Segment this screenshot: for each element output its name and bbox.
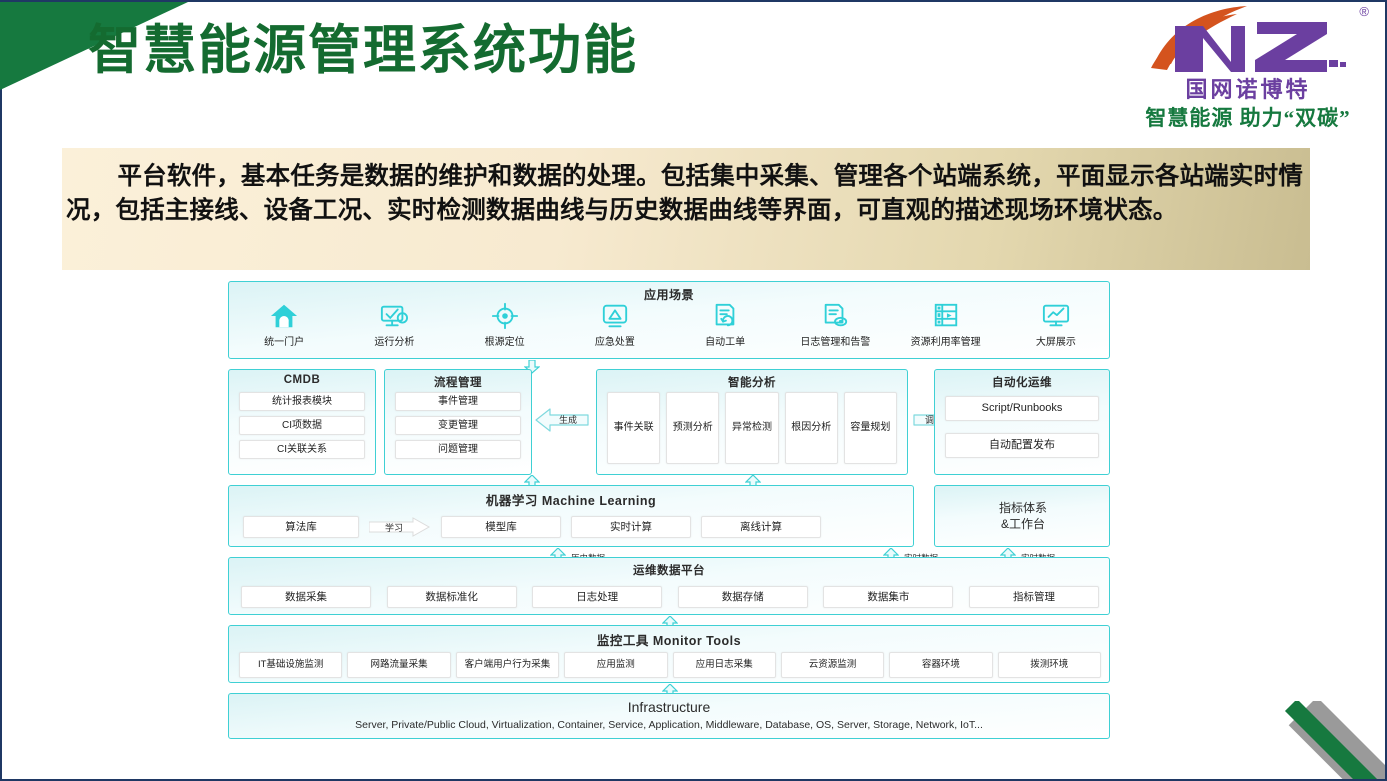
cmdb-title: CMDB — [229, 370, 375, 386]
panel-automation-ops: 自动化运维 Script/Runbooks 自动配置发布 — [934, 369, 1110, 475]
scenario-item-emergency[interactable]: 应急处置 — [563, 302, 667, 348]
server-rack-icon — [931, 302, 961, 330]
arrow-learn-label: 学习 — [369, 521, 419, 534]
infrastructure-subtitle: Server, Private/Public Cloud, Virtualiza… — [229, 715, 1109, 731]
scenario-item-big-screen[interactable]: 大屏展示 — [1004, 302, 1108, 348]
analysis-item[interactable]: 预测分析 — [666, 392, 719, 464]
cmdb-item[interactable]: CI关联关系 — [239, 440, 365, 459]
document-eye-icon — [820, 302, 850, 330]
scenario-item-run-analysis[interactable]: 运行分析 — [342, 302, 446, 348]
monitor-item[interactable]: 应用监测 — [564, 652, 667, 678]
monitor-item[interactable]: 容器环境 — [889, 652, 992, 678]
automation-item-list: Script/Runbooks 自动配置发布 — [945, 396, 1099, 458]
data-platform-title: 运维数据平台 — [229, 558, 1109, 578]
data-platform-item[interactable]: 数据标准化 — [387, 586, 517, 608]
crosshair-target-icon — [490, 302, 520, 330]
document-refresh-icon — [710, 302, 740, 330]
panel-cmdb: CMDB 统计报表模块 CI项数据 CI关联关系 — [228, 369, 376, 475]
data-platform-item[interactable]: 数据采集 — [241, 586, 371, 608]
analysis-title: 智能分析 — [597, 370, 907, 390]
scenario-item-auto-ticket[interactable]: 自动工单 — [673, 302, 777, 348]
automation-title: 自动化运维 — [935, 370, 1109, 390]
monitor-item-list: IT基础设施监测 网路流量采集 客户端用户行为采集 应用监测 应用日志采集 云资… — [239, 652, 1101, 678]
intro-paragraph: 平台软件，基本任务是数据的维护和数据的处理。包括集中采集、管理各个站端系统，平面… — [62, 148, 1310, 228]
home-icon — [269, 302, 299, 330]
scenarios-title: 应用场景 — [229, 282, 1109, 303]
scenario-label: 资源利用率管理 — [911, 333, 981, 348]
scenario-label: 运行分析 — [374, 333, 414, 348]
panel-ops-data-platform: 运维数据平台 数据采集 数据标准化 日志处理 数据存储 数据集市 指标管理 — [228, 557, 1110, 615]
monitor-item[interactable]: 网路流量采集 — [347, 652, 450, 678]
monitor-item[interactable]: 应用日志采集 — [673, 652, 776, 678]
ml-row: 机器学习 Machine Learning 算法库 学习 模型库 实时计算 离线… — [228, 485, 1110, 547]
kpi-line-1: 指标体系 — [935, 500, 1111, 516]
logo-mark-icon — [1145, 4, 1351, 78]
cmdb-item[interactable]: 统计报表模块 — [239, 392, 365, 411]
panel-process-management: 流程管理 事件管理 变更管理 问题管理 — [384, 369, 532, 475]
capability-row: CMDB 统计报表模块 CI项数据 CI关联关系 流程管理 事件管理 变更管理 … — [228, 369, 1110, 475]
arrow-generate-label: 生成 — [540, 413, 596, 426]
panel-kpi-workbench: 指标体系 &工作台 — [934, 485, 1110, 547]
data-platform-item-list: 数据采集 数据标准化 日志处理 数据存储 数据集市 指标管理 — [241, 586, 1099, 608]
analysis-item-list: 事件关联 预测分析 异常检测 根因分析 容量规划 — [607, 392, 897, 464]
page-title: 智慧能源管理系统功能 — [88, 8, 638, 84]
ml-item-list: 算法库 学习 模型库 实时计算 离线计算 — [243, 516, 901, 538]
scenario-label: 日志管理和告警 — [800, 333, 870, 348]
automation-item[interactable]: 自动配置发布 — [945, 433, 1099, 458]
panel-machine-learning: 机器学习 Machine Learning 算法库 学习 模型库 实时计算 离线… — [228, 485, 914, 547]
ml-item-model-library[interactable]: 模型库 — [441, 516, 561, 538]
panel-infrastructure: Infrastructure Server, Private/Public Cl… — [228, 693, 1110, 739]
architecture-diagram: 应用场景 统一门户 运行分析 — [228, 281, 1110, 758]
scenario-label: 统一门户 — [264, 333, 304, 348]
process-item[interactable]: 变更管理 — [395, 416, 521, 435]
scenario-label: 根源定位 — [485, 333, 525, 348]
data-platform-item[interactable]: 日志处理 — [532, 586, 662, 608]
corner-decoration-bottom-right — [1281, 701, 1385, 779]
analysis-item[interactable]: 根因分析 — [785, 392, 838, 464]
scenario-label: 自动工单 — [705, 333, 745, 348]
monitor-item[interactable]: 拨测环境 — [998, 652, 1101, 678]
process-item[interactable]: 问题管理 — [395, 440, 521, 459]
cmdb-item-list: 统计报表模块 CI项数据 CI关联关系 — [239, 392, 365, 459]
infrastructure-title: Infrastructure — [229, 694, 1109, 715]
analysis-item[interactable]: 容量规划 — [844, 392, 897, 464]
arrow-generate: 生成 — [534, 407, 590, 433]
ml-title: 机器学习 Machine Learning — [229, 486, 913, 509]
cmdb-item[interactable]: CI项数据 — [239, 416, 365, 435]
data-platform-item[interactable]: 数据集市 — [823, 586, 953, 608]
panel-monitor-tools: 监控工具 Monitor Tools IT基础设施监测 网路流量采集 客户端用户… — [228, 625, 1110, 683]
alert-triangle-screen-icon — [600, 302, 630, 330]
monitor-chart-icon — [1041, 302, 1071, 330]
logo-company-name: 国网诺博特 — [1123, 72, 1373, 104]
kpi-line-2: &工作台 — [935, 516, 1111, 532]
monitor-item[interactable]: IT基础设施监测 — [239, 652, 342, 678]
process-item-list: 事件管理 变更管理 问题管理 — [395, 392, 521, 459]
kpi-label: 指标体系 &工作台 — [935, 500, 1111, 532]
data-platform-item[interactable]: 指标管理 — [969, 586, 1099, 608]
monitor-item[interactable]: 云资源监测 — [781, 652, 884, 678]
data-platform-item[interactable]: 数据存储 — [678, 586, 808, 608]
analysis-item[interactable]: 异常检测 — [725, 392, 778, 464]
scenario-label: 大屏展示 — [1036, 333, 1076, 348]
scenario-item-root-cause[interactable]: 根源定位 — [453, 302, 557, 348]
registered-trademark-icon: ® — [1359, 4, 1369, 19]
company-logo: ® 国网诺博特 智慧能源 助力“双碳” — [1123, 2, 1373, 136]
ml-item-offline-compute[interactable]: 离线计算 — [701, 516, 821, 538]
automation-item[interactable]: Script/Runbooks — [945, 396, 1099, 421]
panel-application-scenarios: 应用场景 统一门户 运行分析 — [228, 281, 1110, 359]
scenario-list: 统一门户 运行分析 根源定位 — [229, 302, 1111, 358]
ml-item-realtime-compute[interactable]: 实时计算 — [571, 516, 691, 538]
arrow-learn: 学习 — [369, 517, 431, 537]
scenario-item-portal[interactable]: 统一门户 — [232, 302, 336, 348]
scenario-item-resource-usage[interactable]: 资源利用率管理 — [894, 302, 998, 348]
monitor-item[interactable]: 客户端用户行为采集 — [456, 652, 559, 678]
ml-item-algorithm-library[interactable]: 算法库 — [243, 516, 359, 538]
process-title: 流程管理 — [385, 370, 531, 390]
analysis-item[interactable]: 事件关联 — [607, 392, 660, 464]
logo-slogan: 智慧能源 助力“双碳” — [1123, 102, 1373, 132]
monitor-title: 监控工具 Monitor Tools — [229, 626, 1109, 649]
monitor-check-icon — [379, 302, 409, 330]
scenario-item-log-alert[interactable]: 日志管理和告警 — [783, 302, 887, 348]
intro-text-card: 平台软件，基本任务是数据的维护和数据的处理。包括集中采集、管理各个站端系统，平面… — [62, 148, 1310, 270]
process-item[interactable]: 事件管理 — [395, 392, 521, 411]
panel-intelligent-analysis: 智能分析 事件关联 预测分析 异常检测 根因分析 容量规划 — [596, 369, 908, 475]
scenario-label: 应急处置 — [595, 333, 635, 348]
